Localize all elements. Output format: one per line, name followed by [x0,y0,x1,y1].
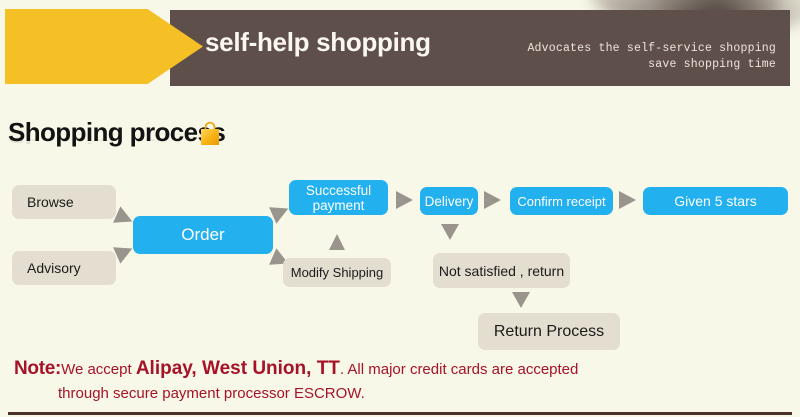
flow-node-confirm-receipt-label: Confirm receipt [517,194,605,209]
shopping-bag-icon [198,121,222,147]
flow-node-given-5-stars-label: Given 5 stars [674,193,756,209]
header-subtitle-line2: save shopping time [476,57,776,73]
payment-note: Note:We accept Alipay, West Union, TT. A… [14,357,784,406]
page-root: Advocates the self-service shopping save… [0,0,800,417]
flow-node-order[interactable]: Order [133,216,273,254]
flow-node-confirm-receipt[interactable]: Confirm receipt [510,187,613,215]
arrow-successful-payment-to-delivery [396,191,413,209]
arrow-delivery-to-not-satisfied [441,224,459,240]
flow-node-modify-shipping[interactable]: Modify Shipping [283,258,391,287]
flow-node-not-satisfied[interactable]: Not satisfied , return [433,253,570,288]
flow-node-successful-payment-label-line1: Successful [306,183,371,198]
section-title: Shopping process [8,117,225,147]
flow-node-successful-payment-label-line2: payment [313,198,365,213]
flow-node-modify-shipping-label: Modify Shipping [291,265,384,280]
flow-node-not-satisfied-label: Not satisfied , return [439,263,564,279]
bottom-divider [8,412,792,415]
header-title: self-help shopping [205,27,431,58]
arrow-not-satisfied-to-return-process [512,292,530,308]
header-subtitle: Advocates the self-service shopping save… [476,41,776,73]
flow-node-browse[interactable]: Browse [12,185,116,219]
flow-node-return-process-label: Return Process [494,323,604,341]
arrow-confirm-receipt-to-given-5-stars [619,191,636,209]
note-lead: We accept [61,361,136,378]
flow-node-given-5-stars[interactable]: Given 5 stars [643,187,788,215]
flow-node-return-process[interactable]: Return Process [478,313,620,350]
note-label: Note: [14,358,61,379]
note-line2: through secure payment processor ESCROW. [14,382,784,406]
flow-node-delivery[interactable]: Delivery [420,187,478,215]
flow-node-successful-payment[interactable]: Successful payment [289,180,388,215]
header-subtitle-line1: Advocates the self-service shopping [476,41,776,57]
flow-node-order-label: Order [181,225,224,245]
section-heading: Shopping process Shopping process [8,117,225,159]
flow-node-advisory[interactable]: Advisory [12,251,116,285]
arrow-delivery-to-confirm-receipt [484,191,501,209]
flow-node-advisory-label: Advisory [27,260,81,276]
note-payment-methods: Alipay, West Union, TT [136,358,340,379]
note-rest: . All major credit cards are accepted [340,361,578,378]
flow-node-browse-label: Browse [27,194,74,210]
flow-node-delivery-label: Delivery [425,194,474,209]
arrow-modify-shipping-to-successful-payment [329,234,345,250]
